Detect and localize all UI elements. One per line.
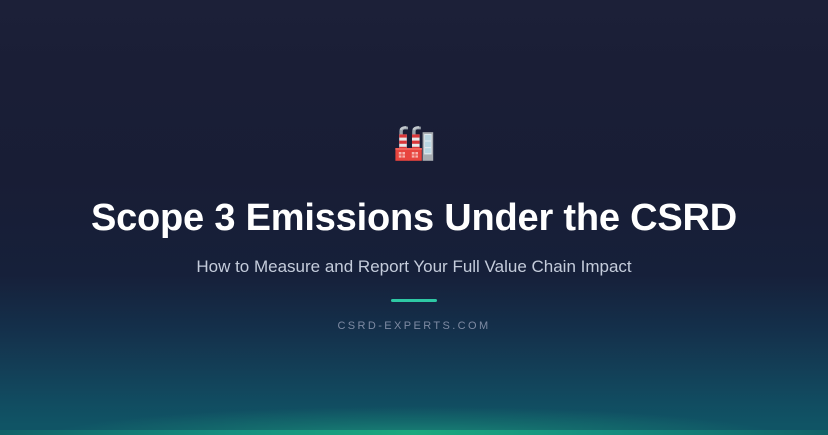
title-slide: Scope 3 Emissions Under the CSRD How to … — [0, 0, 828, 435]
page-subtitle: How to Measure and Report Your Full Valu… — [196, 256, 631, 278]
slide-content: Scope 3 Emissions Under the CSRD How to … — [0, 0, 828, 435]
page-title: Scope 3 Emissions Under the CSRD — [91, 198, 737, 240]
accent-divider — [391, 299, 437, 302]
brand-footer: CSRD-EXPERTS.COM — [337, 320, 490, 332]
factory-icon — [386, 114, 442, 172]
